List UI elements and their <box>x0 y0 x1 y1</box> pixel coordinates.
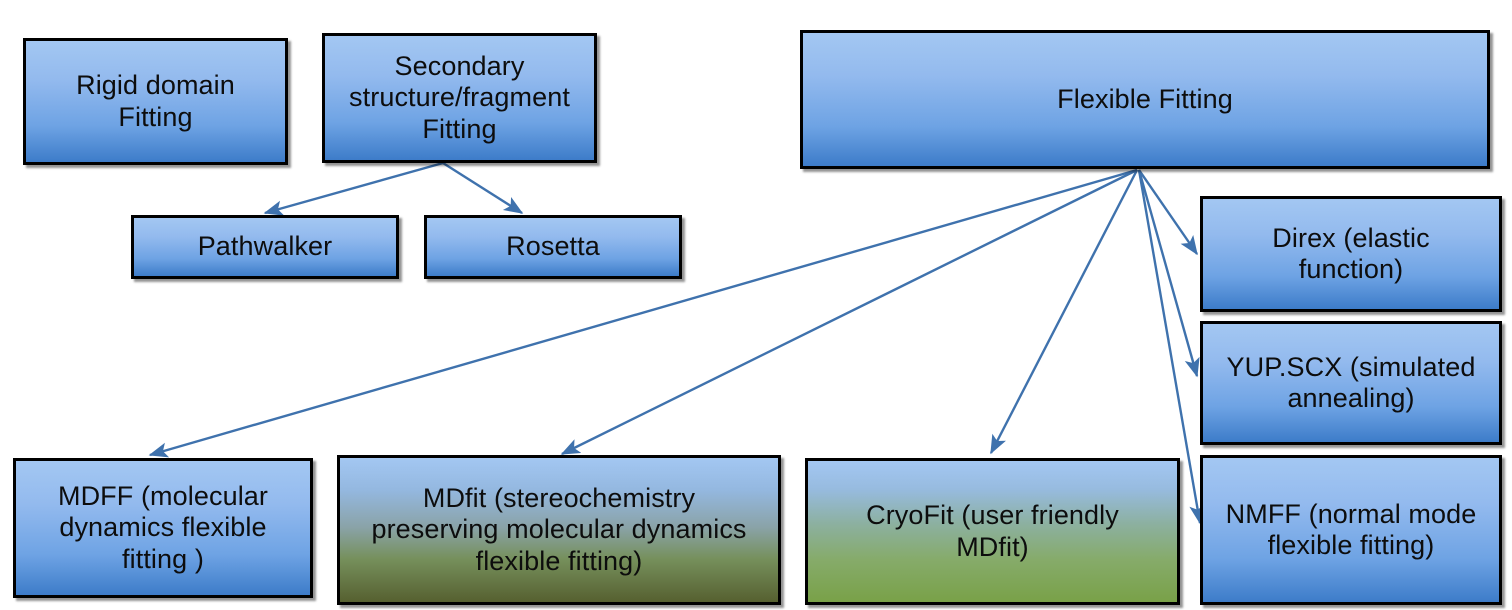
node-label-line: structure/fragment <box>349 82 570 113</box>
node-label: Direx (elastic function) <box>1272 223 1429 286</box>
node-label-line: Fitting <box>349 114 570 145</box>
edge-secondary-to-rosetta <box>443 163 522 213</box>
node-pathwalker[interactable]: Pathwalker <box>131 215 399 279</box>
node-label-line: preserving molecular dynamics <box>371 514 746 545</box>
edge-flexible-to-direx <box>1139 170 1197 254</box>
node-label: NMFF (normal mode flexible fitting) <box>1226 499 1477 562</box>
node-label-line: NMFF (normal mode <box>1226 499 1477 530</box>
node-label-line: CryoFit (user friendly <box>866 500 1119 531</box>
node-label-line: MDfit (stereochemistry <box>371 483 746 514</box>
node-label: Rosetta <box>506 231 600 262</box>
node-label-line: Secondary <box>349 51 570 82</box>
node-label: YUP.SCX (simulated annealing) <box>1227 352 1476 415</box>
edge-secondary-to-pathwalker <box>265 163 443 213</box>
node-mdfit[interactable]: MDfit (stereochemistry preserving molecu… <box>337 455 781 605</box>
node-secondary-structure-fragment-fitting[interactable]: Secondary structure/fragment Fitting <box>322 33 597 163</box>
edge-flexible-to-cryofit <box>991 170 1137 453</box>
node-label: Flexible Fitting <box>1057 84 1233 115</box>
node-label-line: function) <box>1272 254 1429 285</box>
node-label-line: fitting ) <box>58 544 268 575</box>
node-label-line: Rigid domain <box>76 70 235 101</box>
node-label-line: Direx (elastic <box>1272 223 1429 254</box>
node-label: Secondary structure/fragment Fitting <box>349 51 570 145</box>
node-cryofit[interactable]: CryoFit (user friendly MDfit) <box>805 458 1180 605</box>
node-label-line: flexible fitting) <box>1226 530 1477 561</box>
node-label: Pathwalker <box>198 231 333 262</box>
node-rosetta[interactable]: Rosetta <box>424 215 682 279</box>
node-label: Rigid domain Fitting <box>76 70 235 133</box>
edge-flexible-to-mdff <box>150 170 1137 455</box>
node-flexible-fitting[interactable]: Flexible Fitting <box>800 30 1490 169</box>
edge-flexible-to-mdfit <box>562 170 1137 454</box>
node-label-line: YUP.SCX (simulated <box>1227 352 1476 383</box>
node-yup-scx[interactable]: YUP.SCX (simulated annealing) <box>1200 321 1502 445</box>
node-label-line: Pathwalker <box>198 231 333 262</box>
node-nmff[interactable]: NMFF (normal mode flexible fitting) <box>1200 455 1502 605</box>
node-label: MDFF (molecular dynamics flexible fittin… <box>58 481 268 575</box>
node-label-line: Rosetta <box>506 231 600 262</box>
node-label-line: annealing) <box>1227 383 1476 414</box>
node-label-line: MDfit) <box>866 532 1119 563</box>
node-label-line: Flexible Fitting <box>1057 84 1233 115</box>
node-label-line: flexible fitting) <box>371 546 746 577</box>
edge-flexible-to-yupscx <box>1139 170 1197 376</box>
node-label-line: dynamics flexible <box>58 512 268 543</box>
node-label-line: Fitting <box>76 102 235 133</box>
node-label-line: MDFF (molecular <box>58 481 268 512</box>
diagram-canvas: Rigid domain Fitting Secondary structure… <box>0 0 1512 610</box>
node-label: MDfit (stereochemistry preserving molecu… <box>371 483 746 577</box>
node-rigid-domain-fitting[interactable]: Rigid domain Fitting <box>23 38 288 165</box>
node-direx[interactable]: Direx (elastic function) <box>1200 196 1502 312</box>
node-label: CryoFit (user friendly MDfit) <box>866 500 1119 563</box>
node-mdff[interactable]: MDFF (molecular dynamics flexible fittin… <box>13 458 313 598</box>
